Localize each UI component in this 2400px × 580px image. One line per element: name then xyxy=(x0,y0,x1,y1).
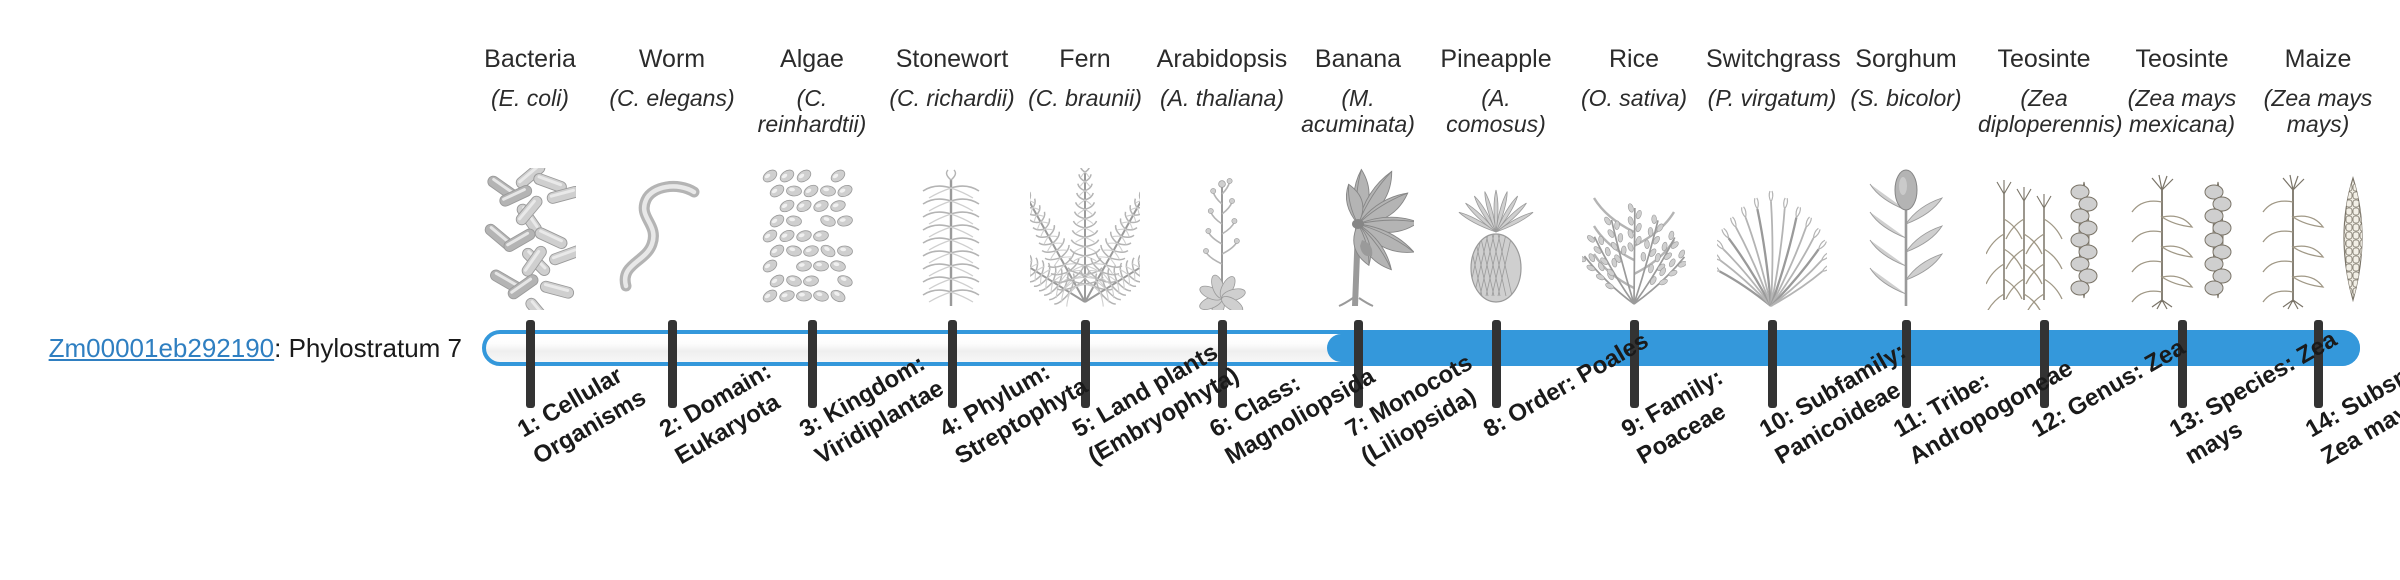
species-scientific-name: (A. comosus) xyxy=(1430,86,1562,138)
species-column: Teosinte(Zea mays mexicana) xyxy=(2116,46,2248,138)
species-column: Arabidopsis(A. thaliana) xyxy=(1156,46,1288,112)
species-column: Maize(Zea mays mays) xyxy=(2252,46,2384,138)
maize-icon xyxy=(2252,168,2384,310)
species-common-name: Pineapple xyxy=(1430,46,1562,73)
stonewort-icon xyxy=(886,168,1018,310)
species-column: Pineapple(A. comosus) xyxy=(1430,46,1562,138)
species-scientific-name: (C. braunii) xyxy=(1019,86,1151,112)
species-scientific-name: (Zea diploperennis) xyxy=(1978,86,2110,138)
algae-icon xyxy=(746,168,878,310)
species-column: Fern(C. braunii) xyxy=(1019,46,1151,112)
species-scientific-name: (C. reinhardtii) xyxy=(746,86,878,138)
species-scientific-name: (Zea mays mays) xyxy=(2252,86,2384,138)
species-scientific-name: (E. coli) xyxy=(464,86,596,112)
gene-label-suffix: : Phylostratum 7 xyxy=(274,333,462,363)
species-scientific-name: (O. sativa) xyxy=(1568,86,1700,112)
teosinte-mexicana-icon xyxy=(2116,168,2248,310)
species-common-name: Worm xyxy=(606,46,738,73)
species-scientific-name: (Zea mays mexicana) xyxy=(2116,86,2248,138)
bacteria-icon xyxy=(464,168,596,310)
species-common-name: Stonewort xyxy=(886,46,1018,73)
species-common-name: Banana xyxy=(1292,46,1424,73)
species-scientific-name: (A. thaliana) xyxy=(1156,86,1288,112)
species-column: Switchgrass(P. virgatum) xyxy=(1706,46,1838,112)
species-column: Algae(C. reinhardtii) xyxy=(746,46,878,138)
species-common-name: Fern xyxy=(1019,46,1151,73)
species-column: Banana(M. acuminata) xyxy=(1292,46,1424,138)
species-column: Stonewort(C. richardii) xyxy=(886,46,1018,112)
sorghum-icon xyxy=(1840,168,1972,310)
species-common-name: Rice xyxy=(1568,46,1700,73)
species-scientific-name: (M. acuminata) xyxy=(1292,86,1424,138)
switchgrass-icon xyxy=(1706,168,1838,310)
gene-id-link[interactable]: Zm00001eb292190 xyxy=(49,333,275,363)
phylostratum-value-text: Phylostratum 7 xyxy=(289,333,462,363)
species-column: Rice(O. sativa) xyxy=(1568,46,1700,112)
phylostratum-tick[interactable] xyxy=(526,320,535,408)
species-common-name: Sorghum xyxy=(1840,46,1972,73)
species-column: Worm(C. elegans) xyxy=(606,46,738,112)
arabidopsis-icon xyxy=(1156,168,1288,310)
phylostratum-timeline: Zm00001eb292190: Phylostratum 7 Bacteria… xyxy=(0,0,2400,580)
species-column: Sorghum(S. bicolor) xyxy=(1840,46,1972,112)
species-scientific-name: (C. richardii) xyxy=(886,86,1018,112)
species-scientific-name: (C. elegans) xyxy=(606,86,738,112)
species-common-name: Switchgrass xyxy=(1706,46,1838,73)
banana-icon xyxy=(1292,168,1424,310)
gene-phylostratum-label: Zm00001eb292190: Phylostratum 7 xyxy=(0,333,462,364)
species-common-name: Maize xyxy=(2252,46,2384,73)
worm-icon xyxy=(606,168,738,310)
species-column: Bacteria(E. coli) xyxy=(464,46,596,112)
fern-icon xyxy=(1019,168,1151,310)
pineapple-icon xyxy=(1430,168,1562,310)
species-common-name: Arabidopsis xyxy=(1156,46,1288,73)
species-column: Teosinte(Zea diploperennis) xyxy=(1978,46,2110,138)
species-common-name: Bacteria xyxy=(464,46,596,73)
rice-icon xyxy=(1568,168,1700,310)
species-common-name: Teosinte xyxy=(1978,46,2110,73)
species-scientific-name: (S. bicolor) xyxy=(1840,86,1972,112)
species-common-name: Teosinte xyxy=(2116,46,2248,73)
gene-label-separator: : xyxy=(274,333,288,363)
species-scientific-name: (P. virgatum) xyxy=(1706,86,1838,112)
teosinte-diplo-icon xyxy=(1978,168,2110,310)
species-common-name: Algae xyxy=(746,46,878,73)
